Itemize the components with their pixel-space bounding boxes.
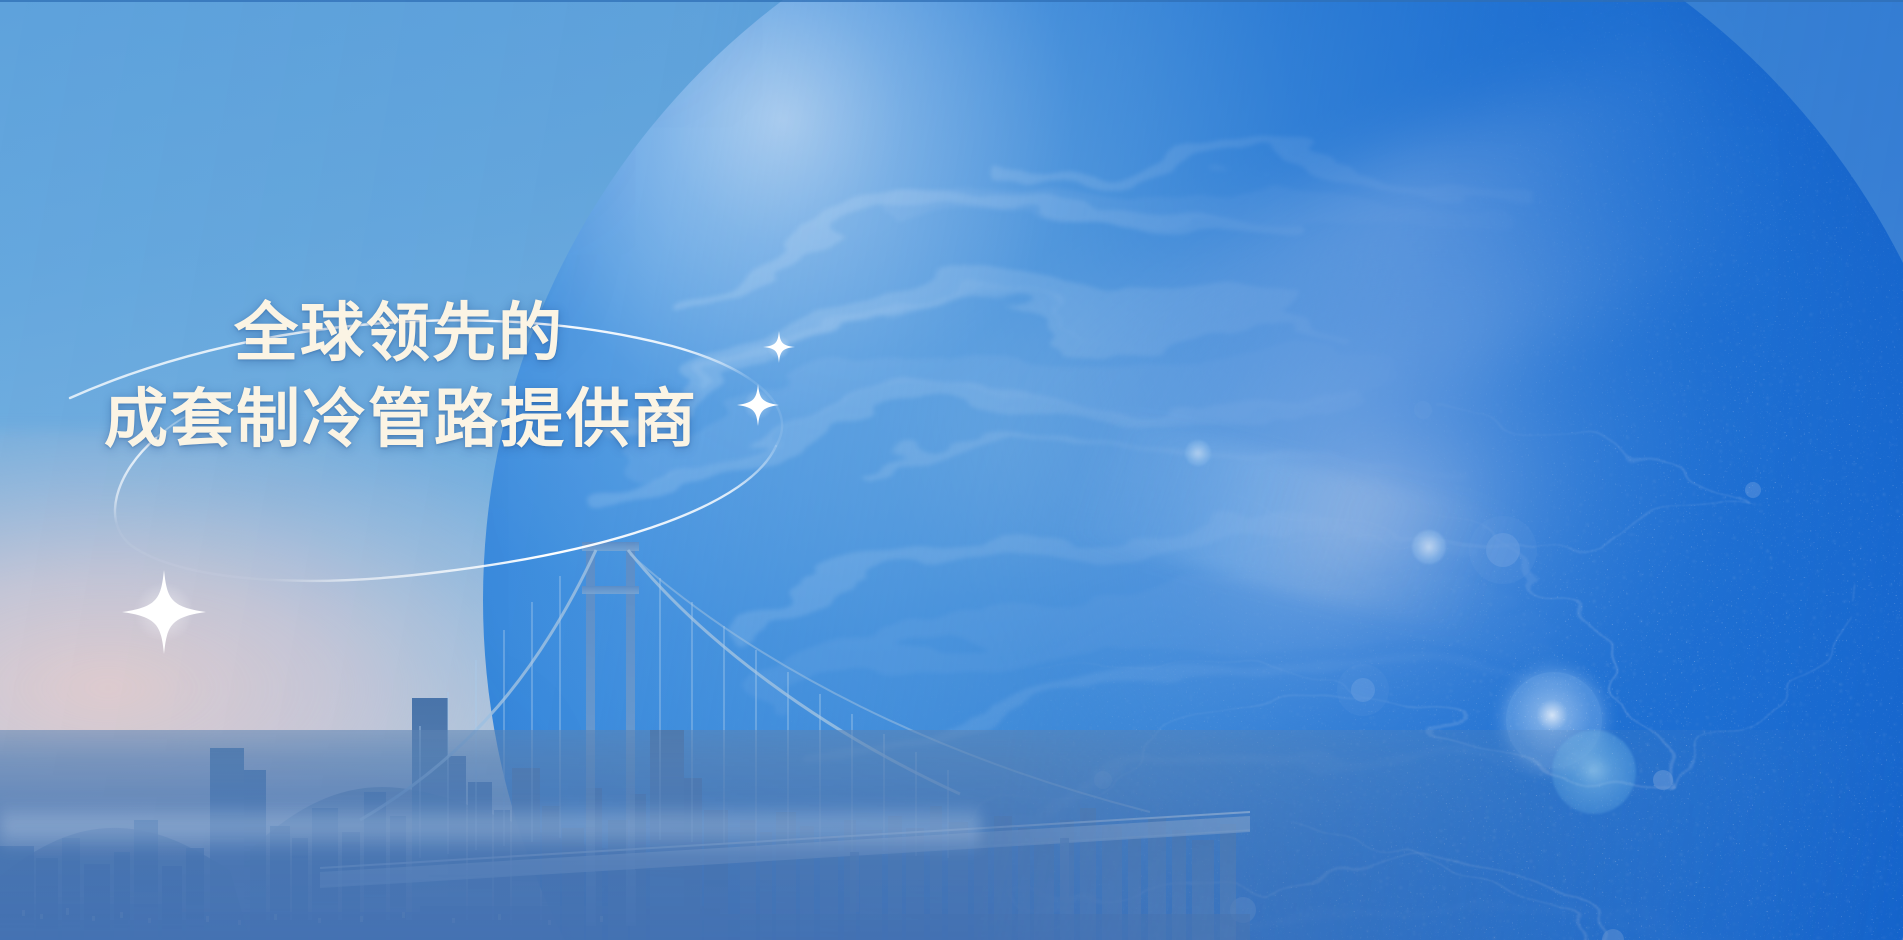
top-edge-hairline [0,0,1903,2]
hero-banner: 全球领先的 成套制冷管路提供商 [0,0,1903,940]
water-sheen [0,802,980,854]
